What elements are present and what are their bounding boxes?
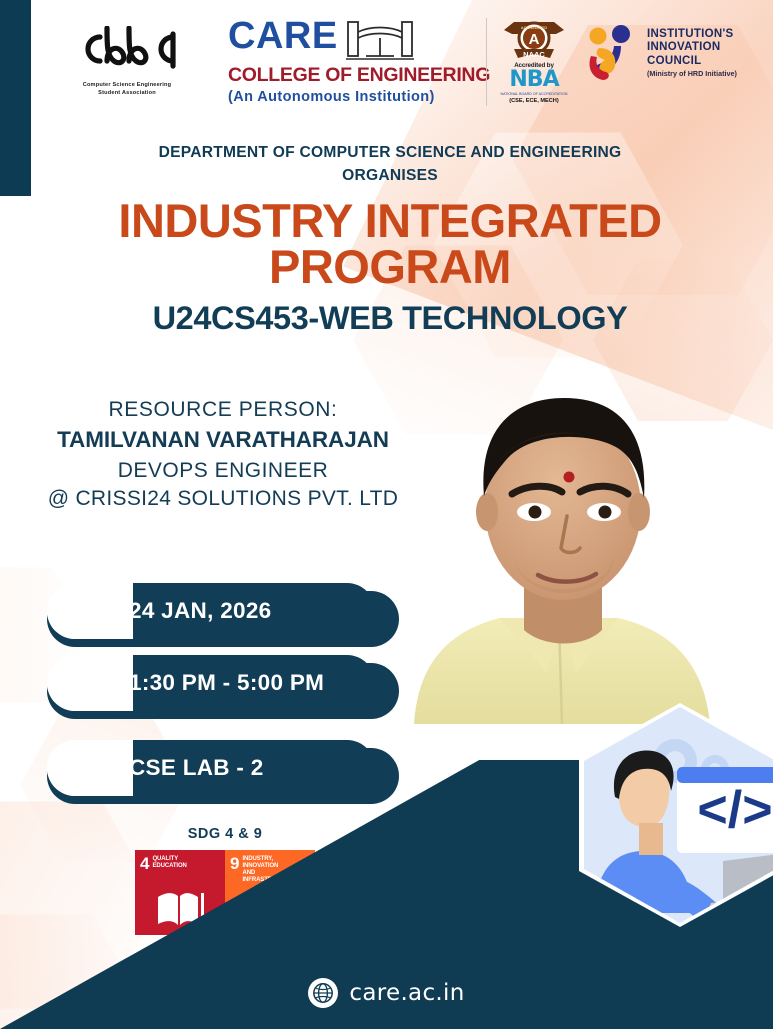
csea-monogram-icon bbox=[62, 26, 192, 79]
care-wordmark: CARE bbox=[228, 18, 338, 54]
csea-monogram-icon bbox=[67, 26, 187, 72]
developer-laptop-icon: </> bbox=[571, 703, 773, 953]
avatar bbox=[404, 372, 722, 724]
iic-logo: INSTITUTION'S INNOVATION COUNCIL (Minist… bbox=[585, 22, 737, 84]
resource-person-label: RESOURCE PERSON: bbox=[8, 396, 438, 424]
nba-full-name: NATIONAL BOARD OF ACCREDITATION bbox=[495, 92, 573, 96]
care-autonomous-line: (An Autonomous Institution) bbox=[228, 89, 478, 105]
iic-line-3: COUNCIL bbox=[647, 55, 737, 69]
sdg-4-title: QUALITY EDUCATION bbox=[152, 856, 186, 870]
iic-subtitle: (Ministry of HRD Initiative) bbox=[647, 69, 737, 78]
iic-line-2: INNOVATION bbox=[647, 41, 737, 55]
svg-text:</>: </> bbox=[697, 781, 772, 839]
nba-logo-icon: NBA bbox=[495, 69, 573, 91]
page-title: INDUSTRY INTEGRATED PROGRAM bbox=[40, 198, 740, 290]
resource-person-organisation: @ CRISSI24 SOLUTIONS PVT. LTD bbox=[8, 485, 438, 513]
venue-value: CSE LAB - 2 bbox=[129, 755, 264, 781]
footer-website[interactable]: care.ac.in bbox=[0, 978, 773, 1008]
svg-text:A: A bbox=[529, 31, 540, 48]
title-line-1: INDUSTRY INTEGRATED bbox=[40, 198, 740, 244]
title-line-2: PROGRAM bbox=[40, 244, 740, 290]
resource-person-role: DEVOPS ENGINEER bbox=[8, 457, 438, 485]
speaker-photo bbox=[404, 372, 722, 724]
logo-header: Computer Science Engineering Student Ass… bbox=[0, 0, 773, 120]
detail-row-date: 24 JAN, 2026 bbox=[47, 583, 375, 639]
globe-icon bbox=[308, 978, 338, 1008]
sdg-label: SDG 4 & 9 bbox=[140, 826, 310, 842]
iic-line-1: INSTITUTION'S bbox=[647, 28, 737, 42]
naac-logo: A NAAC ACCREDITED bbox=[497, 16, 571, 67]
iic-text-block: INSTITUTION'S INNOVATION COUNCIL (Minist… bbox=[647, 28, 737, 79]
course-title: U24CS453-WEB TECHNOLOGY bbox=[40, 300, 740, 337]
detail-row-venue: CSE LAB - 2 bbox=[47, 740, 375, 796]
pill-notch bbox=[47, 740, 133, 796]
nba-departments: (CSE, ECE, MECH) bbox=[495, 98, 573, 104]
date-value: 24 JAN, 2026 bbox=[129, 598, 271, 624]
svg-text:NAAC: NAAC bbox=[523, 50, 545, 59]
nba-logo: Accredited by NBA NATIONAL BOARD OF ACCR… bbox=[495, 62, 573, 104]
care-logo: CARE COLLEGE OF ENGINEERING (An Autonomo… bbox=[228, 18, 478, 105]
pill-notch bbox=[47, 655, 133, 711]
care-arch-icon bbox=[344, 18, 416, 62]
sdg-9-number: 9 bbox=[230, 856, 239, 871]
iic-figure-icon bbox=[585, 22, 639, 84]
website-url: care.ac.in bbox=[349, 980, 464, 1006]
csea-logo: Computer Science Engineering Student Ass… bbox=[62, 26, 192, 97]
time-value: 1:30 PM - 5:00 PM bbox=[129, 670, 324, 696]
pill-notch bbox=[47, 583, 133, 639]
svg-text:ACCREDITED: ACCREDITED bbox=[521, 25, 547, 30]
globe-icon bbox=[312, 982, 334, 1004]
department-heading: DEPARTMENT OF COMPUTER SCIENCE AND ENGIN… bbox=[60, 141, 720, 188]
department-line-1: DEPARTMENT OF COMPUTER SCIENCE AND ENGIN… bbox=[60, 141, 720, 164]
detail-row-time: 1:30 PM - 5:00 PM bbox=[47, 655, 375, 711]
sdg-4-number: 4 bbox=[140, 856, 149, 871]
department-line-2: ORGANISES bbox=[60, 164, 720, 187]
web-developer-hexagon-illustration: </> bbox=[571, 703, 773, 953]
event-poster: Computer Science Engineering Student Ass… bbox=[0, 0, 773, 1029]
resource-person-name: TAMILVANAN VARATHARAJAN bbox=[8, 424, 438, 457]
logo-divider bbox=[486, 18, 487, 106]
care-college-line: COLLEGE OF ENGINEERING bbox=[228, 64, 478, 87]
csea-subtitle: Computer Science Engineering Student Ass… bbox=[62, 82, 192, 97]
naac-seal-icon: A NAAC ACCREDITED bbox=[500, 16, 568, 62]
resource-person-block: RESOURCE PERSON: TAMILVANAN VARATHARAJAN… bbox=[8, 396, 438, 514]
